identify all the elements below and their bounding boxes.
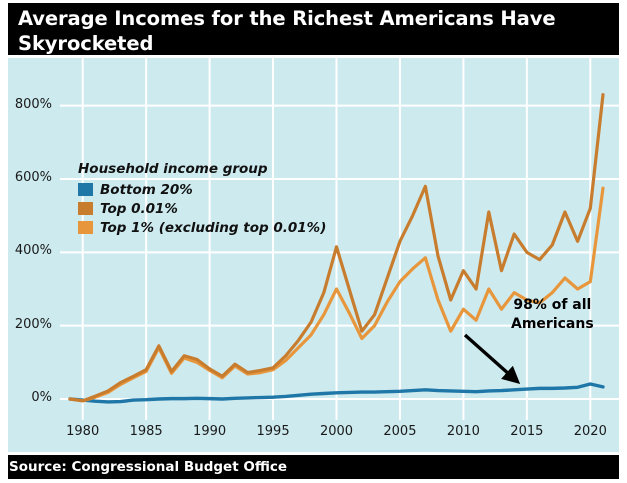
legend-label-top-001: Top 0.01% xyxy=(100,201,178,217)
chart-plot-area xyxy=(8,58,619,452)
y-tick-label: 800% xyxy=(0,97,52,112)
x-tick-label: 2015 xyxy=(497,424,557,439)
chart-legend: Household income group Bottom 20% Top 0.… xyxy=(78,161,326,237)
x-tick-label: 1990 xyxy=(180,424,240,439)
legend-item-top-001: Top 0.01% xyxy=(78,199,326,218)
source-bar: Source: Congressional Budget Office xyxy=(8,455,619,479)
y-tick-label: 400% xyxy=(0,243,52,258)
x-tick-label: 2005 xyxy=(370,424,430,439)
annotation-line-2: Americans xyxy=(511,315,594,334)
legend-swatch-bottom-20 xyxy=(78,183,93,196)
legend-label-top-1: Top 1% (excluding top 0.01%) xyxy=(100,220,326,236)
y-tick-label: 0% xyxy=(0,390,52,405)
chart-annotation: 98% of all Americans xyxy=(511,296,594,334)
y-tick-label: 200% xyxy=(0,317,52,332)
x-tick-label: 1995 xyxy=(243,424,303,439)
chart-page: Average Incomes for the Richest American… xyxy=(0,0,627,483)
source-text: Source: Congressional Budget Office xyxy=(9,455,287,479)
x-tick-label: 1985 xyxy=(116,424,176,439)
x-tick-label: 1980 xyxy=(53,424,113,439)
legend-item-top-1: Top 1% (excluding top 0.01%) xyxy=(78,218,326,237)
line-chart-svg xyxy=(8,58,619,452)
legend-title: Household income group xyxy=(78,161,326,177)
legend-swatch-top-1 xyxy=(78,221,93,234)
title-bar: Average Incomes for the Richest American… xyxy=(8,3,619,55)
x-tick-label: 2020 xyxy=(560,424,620,439)
x-tick-label: 2000 xyxy=(307,424,367,439)
legend-swatch-top-001 xyxy=(78,202,93,215)
x-tick-label: 2010 xyxy=(433,424,493,439)
legend-item-bottom-20: Bottom 20% xyxy=(78,180,326,199)
page-title: Average Incomes for the Richest American… xyxy=(18,7,609,57)
annotation-line-1: 98% of all xyxy=(511,296,594,315)
legend-label-bottom-20: Bottom 20% xyxy=(100,182,193,198)
y-tick-label: 600% xyxy=(0,170,52,185)
